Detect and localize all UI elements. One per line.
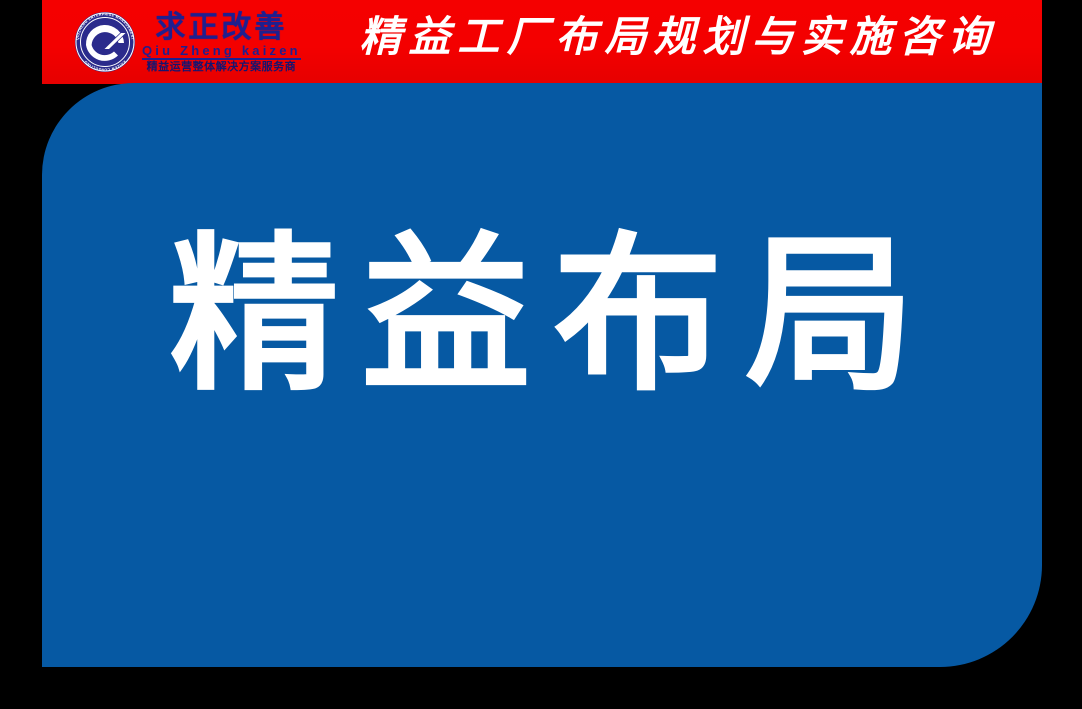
slide-main-title: 精益布局 (42, 221, 1042, 411)
slide-canvas: QIUZHENG ENTERPRISE MANAGEMENT KAIZEN CO… (0, 0, 1082, 709)
header-banner: QIUZHENG ENTERPRISE MANAGEMENT KAIZEN CO… (42, 0, 1042, 84)
content-panel: 精益布局 (42, 83, 1042, 667)
banner-title: 精益工厂布局规划与实施咨询 (42, 9, 1042, 67)
